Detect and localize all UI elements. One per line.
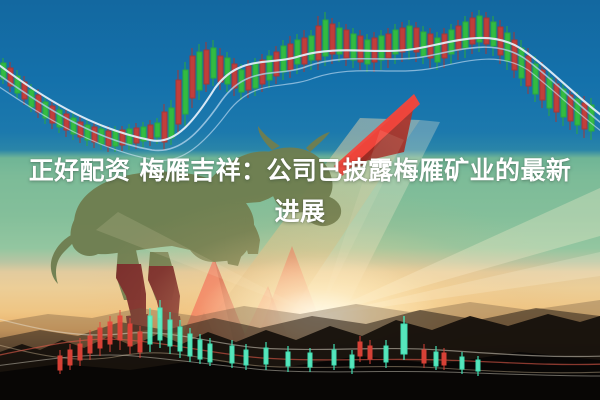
page-title: 正好配资 梅雁吉祥：公司已披露梅雁矿业的最新 进展 [0,150,600,232]
news-banner-image: 正好配资 梅雁吉祥：公司已披露梅雁矿业的最新 进展 [0,0,600,400]
